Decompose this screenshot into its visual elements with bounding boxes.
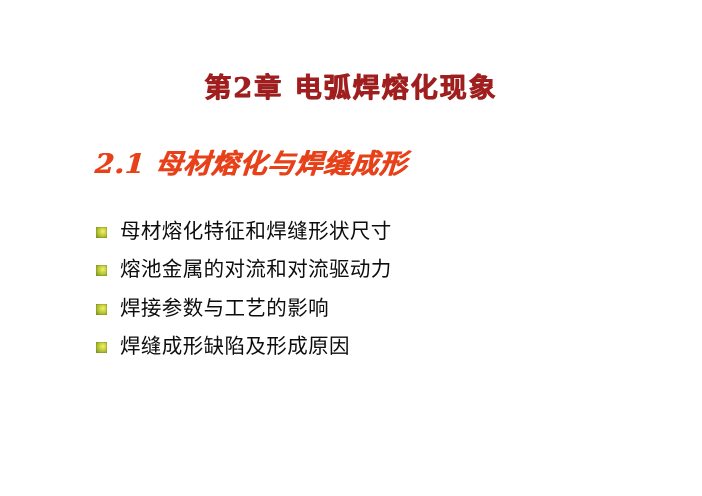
green-square-bullet-icon xyxy=(96,342,107,353)
slide-title: 第2章 电弧焊熔化现象 xyxy=(0,72,702,106)
list-item-label: 母材熔化特征和焊缝形状尺寸 xyxy=(120,219,392,244)
list-item: 焊接参数与工艺的影响 xyxy=(96,289,392,328)
list-item: 焊缝成形缺陷及形成原因 xyxy=(96,328,392,367)
list-item: 母材熔化特征和焊缝形状尺寸 xyxy=(96,212,392,251)
green-square-bullet-icon xyxy=(96,227,107,238)
list-item-label: 焊缝成形缺陷及形成原因 xyxy=(120,334,350,359)
presentation-slide: 第2章 电弧焊熔化现象 2.1 母材熔化与焊缝成形 母材熔化特征和焊缝形状尺寸 … xyxy=(0,0,702,496)
bullet-list: 母材熔化特征和焊缝形状尺寸 熔池金属的对流和对流驱动力 焊接参数与工艺的影响 焊… xyxy=(96,212,392,366)
slide-subtitle: 2.1 母材熔化与焊缝成形 xyxy=(94,148,409,182)
list-item: 熔池金属的对流和对流驱动力 xyxy=(96,251,392,290)
green-square-bullet-icon xyxy=(96,304,107,315)
list-item-label: 焊接参数与工艺的影响 xyxy=(120,296,329,321)
green-square-bullet-icon xyxy=(96,265,107,276)
list-item-label: 熔池金属的对流和对流驱动力 xyxy=(120,257,392,282)
